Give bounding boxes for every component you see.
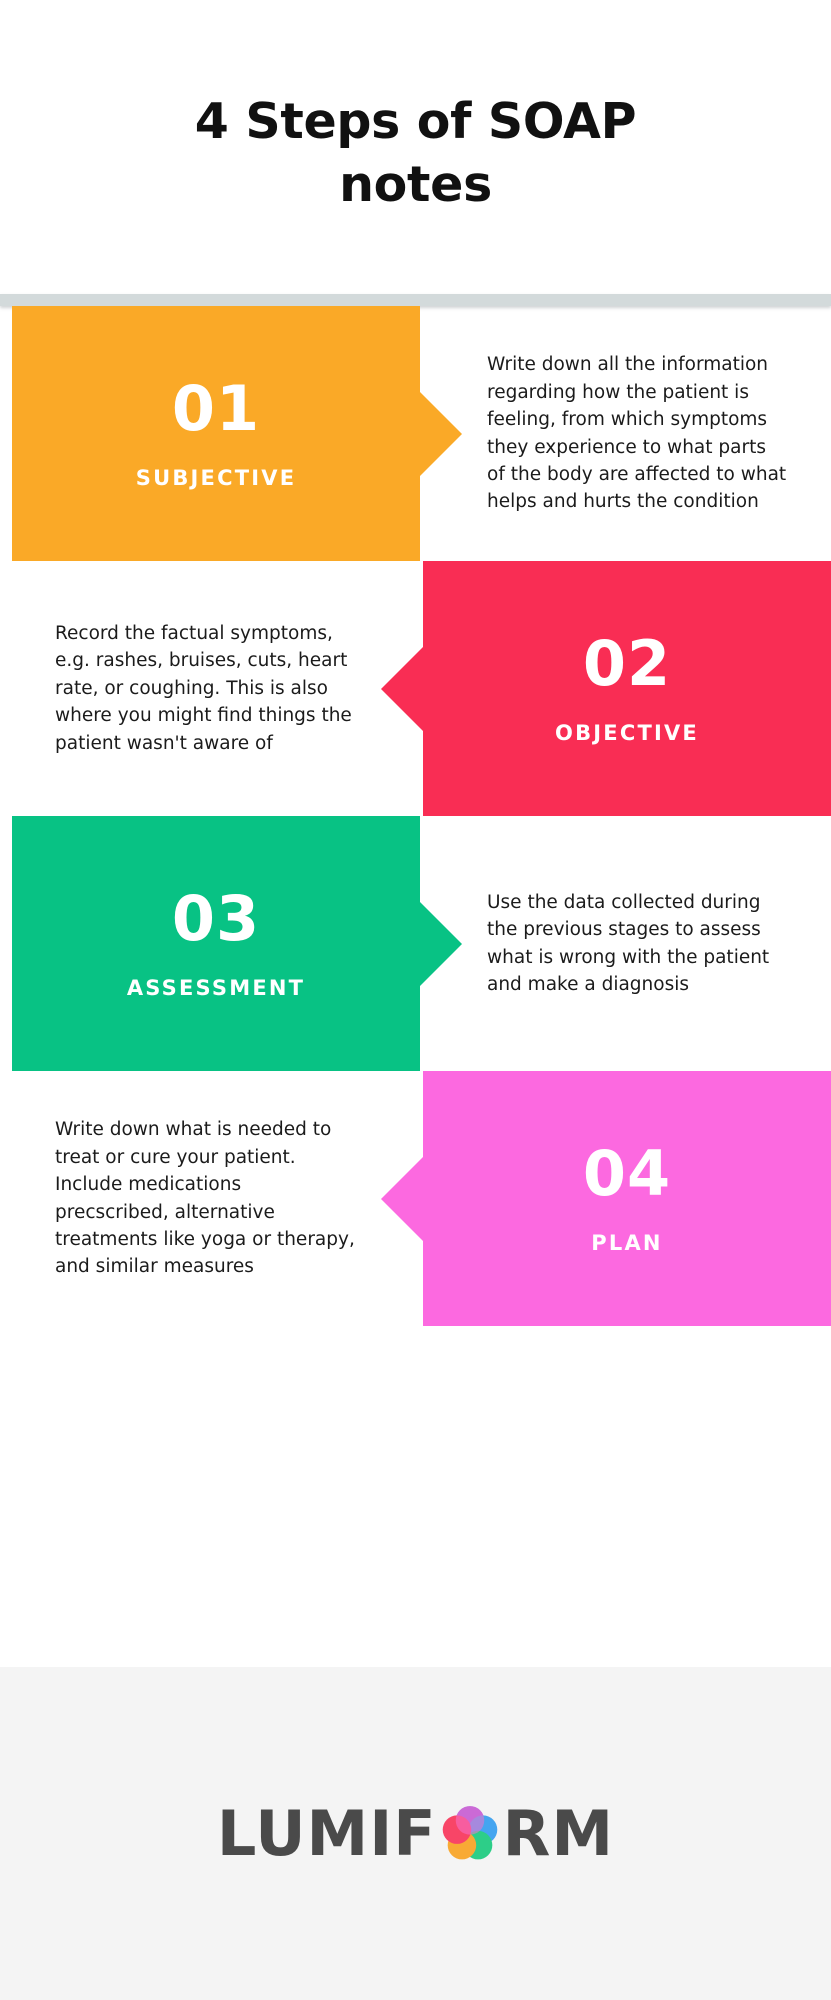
step-color-block: 03 ASSESSMENT: [12, 816, 420, 1071]
step-label: SUBJECTIVE: [136, 466, 297, 490]
step-description: Write down what is needed to treat or cu…: [55, 1071, 355, 1326]
lumiform-logo: LUMIF RM: [217, 1803, 614, 1865]
page-title: 4 Steps of SOAP notes: [181, 73, 651, 216]
arrow-right-icon: [420, 902, 462, 986]
step-color-block: 04 PLAN: [423, 1071, 831, 1326]
step-label: ASSESSMENT: [127, 976, 305, 1000]
step-description: Use the data collected during the previo…: [487, 816, 787, 1071]
arrow-left-icon: [381, 647, 423, 731]
grey-divider-bar: [0, 294, 831, 306]
title-area: 4 Steps of SOAP notes: [0, 0, 831, 290]
step-color-block: 01 SUBJECTIVE: [12, 306, 420, 561]
step-description: Record the factual symptoms, e.g. rashes…: [55, 561, 355, 816]
steps-list: 01 SUBJECTIVE Write down all the informa…: [0, 306, 831, 1326]
soap-notes-infographic: 4 Steps of SOAP notes 01 SUBJECTIVE Writ…: [0, 0, 831, 2000]
step-item: 03 ASSESSMENT Use the data collected dur…: [0, 816, 831, 1071]
logo-text-before: LUMIF: [217, 1803, 437, 1865]
footer: LUMIF RM: [0, 1667, 831, 2000]
step-description: Write down all the information regarding…: [487, 306, 787, 561]
arrow-left-icon: [381, 1157, 423, 1241]
step-number: 04: [583, 1143, 671, 1205]
logo-text-after: RM: [503, 1803, 614, 1865]
step-color-block: 02 OBJECTIVE: [423, 561, 831, 816]
arrow-right-icon: [420, 392, 462, 476]
step-item: 04 PLAN Write down what is needed to tre…: [0, 1071, 831, 1326]
step-number: 02: [583, 633, 671, 695]
step-number: 01: [172, 378, 260, 440]
step-number: 03: [172, 888, 260, 950]
step-item: 02 OBJECTIVE Record the factual symptoms…: [0, 561, 831, 816]
step-label: PLAN: [591, 1231, 662, 1255]
lumiform-flower-logo-icon: [439, 1803, 501, 1865]
step-label: OBJECTIVE: [555, 721, 699, 745]
step-item: 01 SUBJECTIVE Write down all the informa…: [0, 306, 831, 561]
